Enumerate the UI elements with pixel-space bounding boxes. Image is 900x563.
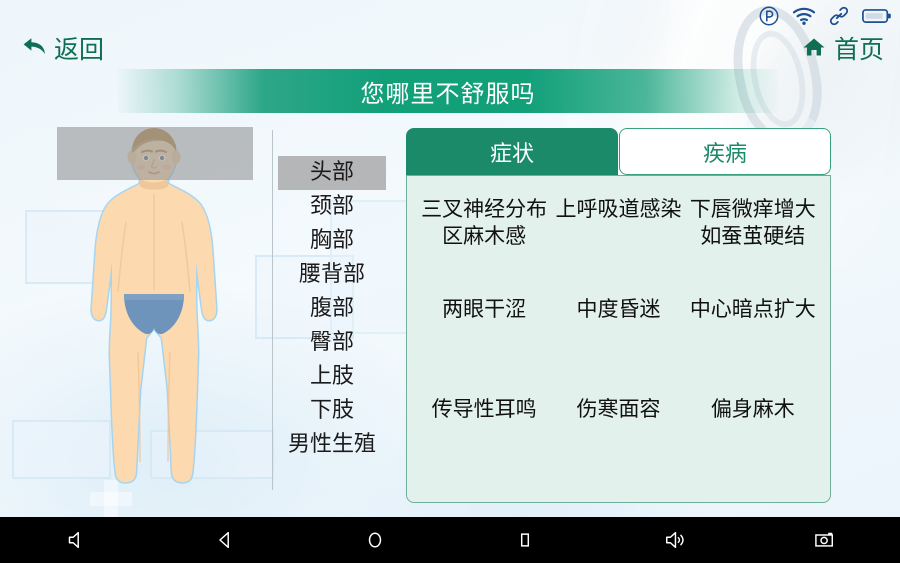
body-part-item-neck[interactable]: 颈部 <box>278 190 386 224</box>
symptom-item[interactable]: 中心暗点扩大 <box>690 296 816 323</box>
back-button-label: 返回 <box>54 37 104 62</box>
symptom-cell: 两眼干涩 <box>417 290 551 386</box>
vertical-divider <box>272 130 273 490</box>
symptom-cell: 偏身麻木 <box>686 390 820 486</box>
battery-icon <box>862 7 892 25</box>
symptom-item[interactable]: 三叉神经分布区麻木感 <box>418 196 550 250</box>
wifi-icon <box>792 6 816 26</box>
body-part-item-upperlimb[interactable]: 上肢 <box>278 360 386 394</box>
body-part-item-abdomen[interactable]: 腹部 <box>278 292 386 326</box>
body-part-item-lowerlimb[interactable]: 下肢 <box>278 394 386 428</box>
status-bar <box>758 5 892 27</box>
body-figure-panel[interactable] <box>40 120 268 490</box>
body-part-item-malegenital[interactable]: 男性生殖 <box>278 428 386 462</box>
symptom-cell: 下唇微痒增大如蚕茧硬结 <box>686 190 820 286</box>
symptom-item[interactable]: 传导性耳鸣 <box>432 396 537 423</box>
tab-symptoms[interactable]: 症状 <box>406 128 618 175</box>
volume-down-icon <box>64 529 86 551</box>
page-title-banner: 您哪里不舒服吗 <box>118 69 778 113</box>
screenshot-camera-icon <box>813 530 837 550</box>
symptom-item[interactable]: 下唇微痒增大如蚕茧硬结 <box>687 196 819 250</box>
page-title: 您哪里不舒服吗 <box>361 74 536 109</box>
symptom-item[interactable]: 偏身麻木 <box>711 396 795 423</box>
symptom-item[interactable]: 上呼吸道感染 <box>555 196 681 223</box>
body-part-item-head[interactable]: 头部 <box>278 156 386 190</box>
back-button[interactable]: 返回 <box>22 36 104 62</box>
recents-square-icon <box>514 529 536 551</box>
recents-button-nav[interactable] <box>450 517 600 563</box>
volume-up-icon <box>663 529 687 551</box>
home-button-label: 首页 <box>834 37 884 62</box>
symptom-item[interactable]: 两眼干涩 <box>442 296 526 323</box>
back-triangle-icon <box>214 529 236 551</box>
android-navigation-bar <box>0 517 900 563</box>
body-part-item-lowerback[interactable]: 腰背部 <box>278 258 386 292</box>
symptom-item[interactable]: 伤寒面容 <box>576 396 660 423</box>
parking-p-icon <box>758 5 780 27</box>
symptom-item[interactable]: 中度昏迷 <box>576 296 660 323</box>
body-region-head-highlight[interactable] <box>57 127 253 180</box>
symptom-content-panel: 三叉神经分布区麻木感 上呼吸道感染 下唇微痒增大如蚕茧硬结 两眼干涩 中度昏迷 … <box>406 175 831 503</box>
tab-bar: 症状 疾病 <box>406 128 831 175</box>
back-button-nav[interactable] <box>150 517 300 563</box>
symptom-disease-panel: 症状 疾病 三叉神经分布区麻木感 上呼吸道感染 下唇微痒增大如蚕茧硬结 两眼干涩… <box>406 128 831 503</box>
volume-up-button[interactable] <box>600 517 750 563</box>
symptom-cell: 传导性耳鸣 <box>417 390 551 486</box>
home-button-nav[interactable] <box>300 517 450 563</box>
link-icon <box>828 5 850 27</box>
symptom-cell: 上呼吸道感染 <box>551 190 685 286</box>
house-icon <box>802 36 826 62</box>
tab-diseases[interactable]: 疾病 <box>619 128 831 175</box>
body-part-item-buttocks[interactable]: 臀部 <box>278 326 386 360</box>
body-part-list: 头部 颈部 胸部 腰背部 腹部 臀部 上肢 下肢 男性生殖 <box>278 156 386 462</box>
body-part-item-chest[interactable]: 胸部 <box>278 224 386 258</box>
app-screen: 返回 首页 您哪里不舒服吗 <box>0 0 900 563</box>
back-arrow-icon <box>22 36 48 62</box>
screenshot-button-nav[interactable] <box>750 517 900 563</box>
symptom-cell: 伤寒面容 <box>551 390 685 486</box>
symptom-cell: 中度昏迷 <box>551 290 685 386</box>
symptom-cell: 中心暗点扩大 <box>686 290 820 386</box>
home-button[interactable]: 首页 <box>802 36 884 62</box>
home-circle-icon <box>364 529 386 551</box>
symptom-cell: 三叉神经分布区麻木感 <box>417 190 551 286</box>
volume-down-button[interactable] <box>0 517 150 563</box>
symptom-grid: 三叉神经分布区麻木感 上呼吸道感染 下唇微痒增大如蚕茧硬结 两眼干涩 中度昏迷 … <box>417 190 820 486</box>
